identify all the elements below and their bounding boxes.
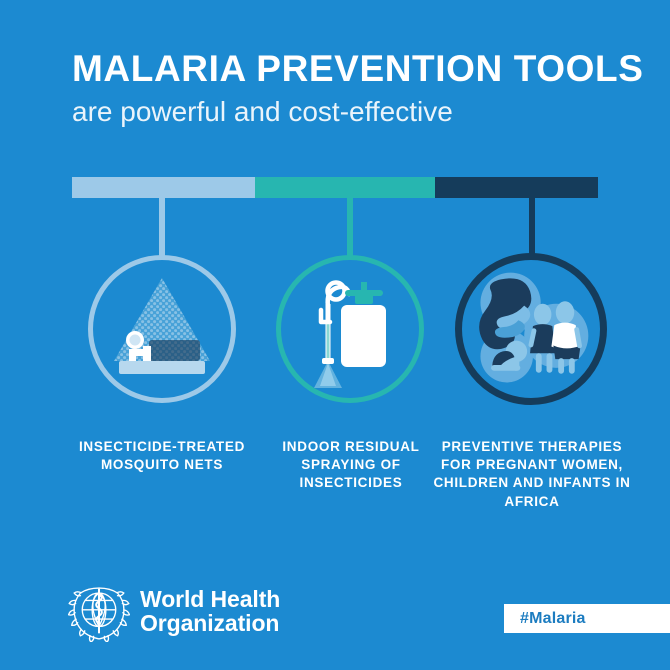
connector-stem-spraying	[347, 198, 353, 258]
page-subtitle: are powerful and cost-effective	[72, 96, 632, 128]
who-logo-line1: World Health	[140, 587, 280, 611]
segmented-bar	[72, 177, 598, 198]
insecticide-sprayer-icon	[281, 260, 419, 398]
connector-stem-nets	[159, 198, 165, 258]
hashtag-badge[interactable]: #Malaria	[504, 604, 670, 633]
who-logo: World Health Organization	[68, 580, 280, 642]
who-emblem-icon	[68, 580, 130, 642]
caption-spraying: INDOOR RESIDUAL SPRAYING OF INSECTICIDES	[262, 438, 440, 493]
hashtag-label: #Malaria	[504, 610, 586, 628]
mosquito-net-bed-icon	[93, 260, 231, 398]
pregnant-woman-children-icon	[462, 260, 600, 398]
infographic-poster: MALARIA PREVENTION TOOLS are powerful an…	[0, 0, 670, 670]
bar-segment-nets	[72, 177, 255, 198]
caption-nets: INSECTICIDE-TREATED MOSQUITO NETS	[62, 438, 262, 474]
icon-circle-therapies	[455, 253, 607, 405]
bar-segment-therapies	[435, 177, 598, 198]
connector-stem-therapies	[529, 198, 535, 258]
icon-circle-spraying	[276, 255, 424, 403]
who-logo-text: World Health Organization	[140, 587, 280, 636]
bar-segment-spraying	[255, 177, 435, 198]
page-title: MALARIA PREVENTION TOOLS	[72, 50, 632, 89]
who-logo-line2: Organization	[140, 611, 280, 635]
caption-therapies: PREVENTIVE THERAPIES FOR PREGNANT WOMEN,…	[432, 438, 632, 511]
icon-circle-nets	[88, 255, 236, 403]
